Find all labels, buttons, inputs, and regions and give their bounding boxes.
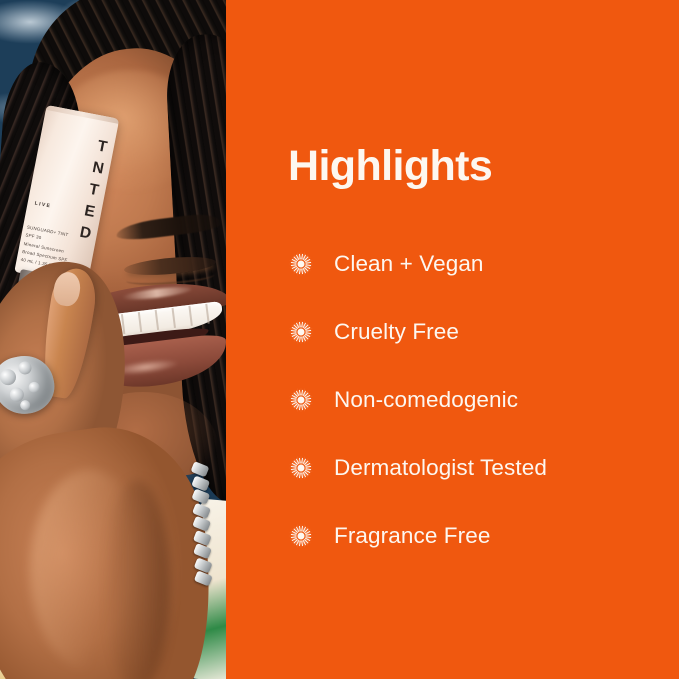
sunburst-icon (288, 251, 314, 277)
highlights-panel: Highlights Clean + VeganCruelty FreeNon-… (226, 0, 679, 679)
sunburst-icon (288, 319, 314, 345)
tooth-separator (172, 308, 176, 328)
highlight-item-label: Non-comedogenic (334, 387, 518, 413)
ring-stone (0, 368, 18, 387)
chain-link (193, 557, 212, 573)
tooth-separator (138, 312, 142, 332)
highlight-item-label: Clean + Vegan (334, 251, 484, 277)
sunburst-icon (288, 523, 314, 549)
chain-link (192, 516, 211, 532)
sunburst-icon (288, 387, 314, 413)
page-title: Highlights (288, 145, 679, 188)
chain-link (191, 488, 210, 504)
highlight-item: Non-comedogenic (288, 366, 679, 434)
chain-link (191, 475, 210, 491)
highlight-item: Fragrance Free (288, 502, 679, 570)
tooth-separator (188, 306, 192, 326)
ring-stone (28, 381, 41, 394)
chain-link (193, 529, 212, 545)
highlight-item-label: Dermatologist Tested (334, 455, 547, 481)
highlights-card: TNTED LIVE SUNGUARD+ TINT SPF 30 Mineral… (0, 0, 679, 679)
chain-link (194, 570, 213, 586)
product-lifestyle-photo: TNTED LIVE SUNGUARD+ TINT SPF 30 Mineral… (0, 0, 226, 679)
highlight-item: Clean + Vegan (288, 230, 679, 298)
tooth-separator (205, 304, 209, 324)
ring-stone (17, 360, 32, 375)
chain-link (192, 502, 211, 518)
tooth-separator (155, 310, 159, 330)
highlight-item: Dermatologist Tested (288, 434, 679, 502)
chain-link (193, 543, 212, 559)
highlight-item-label: Cruelty Free (334, 319, 459, 345)
highlights-list: Clean + VeganCruelty FreeNon-comedogenic… (288, 230, 679, 570)
highlight-item: Cruelty Free (288, 298, 679, 366)
ring-stone (19, 399, 31, 411)
highlight-item-label: Fragrance Free (334, 523, 490, 549)
sunburst-icon (288, 455, 314, 481)
